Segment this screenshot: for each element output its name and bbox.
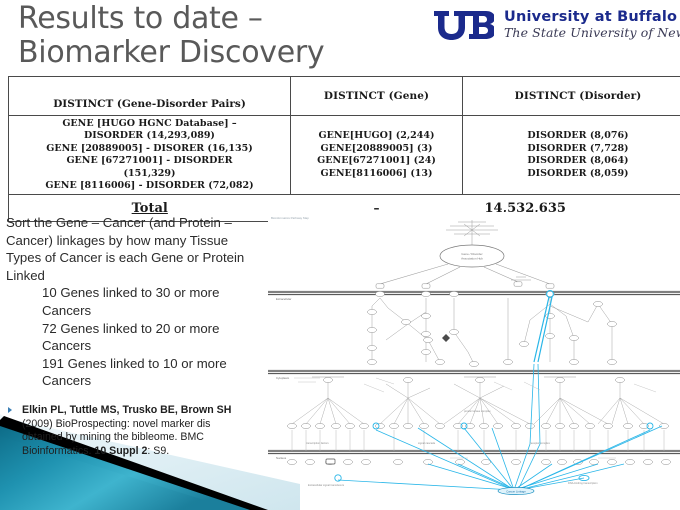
fan-cluster-3: [444, 380, 530, 424]
diagram-caption: Bioinformatics Pathway Map: [271, 216, 309, 220]
list-item: 191 Genes linked to 10 or more Cancers: [42, 355, 262, 390]
citation-journal: Bioinformatics.: [22, 445, 94, 457]
list-item: 72 Genes linked to 20 or more Cancers: [42, 320, 262, 355]
pairs-line-6: GENE [8116006] - DISORDER (72,082): [12, 180, 287, 192]
membrane-label-2: Cytoplasm: [276, 376, 290, 380]
svg-text:signal cascade: signal cascade: [418, 441, 436, 445]
citation-pages: : S9.: [147, 445, 169, 457]
logo-system-name: The State University of New York: [504, 25, 680, 40]
table-header-pairs: DISTINCT (Gene-Disorder Pairs): [9, 77, 291, 116]
gene-line-2: GENE[20889005] (3): [294, 143, 459, 155]
gene-line-1: GENE[HUGO] (2,244): [294, 130, 459, 142]
results-table: DISTINCT (Gene-Disorder Pairs) DISTINCT …: [8, 76, 680, 222]
svg-text:DNA-binding transcription: DNA-binding transcription: [568, 481, 598, 485]
body-lead-text: Sort the Gene – Cancer (and Protein – Ca…: [6, 214, 262, 284]
biological-pathway-network-diagram: Bioinformatics Pathway Map Extracellular…: [268, 212, 680, 510]
svg-text:Pathway Legend: Pathway Legend: [271, 501, 291, 505]
fan-hubs: [312, 377, 625, 383]
page-title: Results to date – Biomarker Discovery: [18, 2, 448, 70]
table-data-row: GENE [HUGO HGNC Database] – DISORDER (14…: [9, 116, 680, 195]
svg-text:Gene / Disorder: Gene / Disorder: [461, 252, 482, 256]
table-header-row: DISTINCT (Gene-Disorder Pairs) DISTINCT …: [9, 77, 680, 116]
membrane-label-1: Extracellular: [276, 297, 291, 301]
table-cell-pairs: GENE [HUGO HGNC Database] – DISORDER (14…: [9, 116, 291, 195]
citation-line-2: (2009) BioProspecting: novel marker dis: [22, 418, 270, 432]
nuclear-node-row: [288, 459, 671, 464]
table-cell-gene: GENE[HUGO] (2,244) GENE[20889005] (3) GE…: [291, 116, 463, 195]
table-header-gene: DISTINCT (Gene): [291, 77, 463, 116]
hub-cluster: [446, 220, 498, 246]
citation-volume: 10 Suppl 2: [94, 445, 147, 457]
special-nuclear-node: [326, 459, 335, 464]
fan-cluster-2: [380, 380, 440, 424]
pairs-line-5: (151,329): [12, 168, 287, 180]
university-logo: University at Buffalo The State Universi…: [432, 6, 672, 48]
vertical-drops: [292, 430, 664, 451]
page-title-line1: Results to date –: [18, 1, 263, 36]
fan-cluster-5: [598, 380, 664, 424]
ub-logo-mark-icon: [432, 8, 494, 42]
pairs-line-3: GENE [20889005] - DISORER (16,135): [12, 143, 287, 155]
citation-body: Elkin PL, Tuttle MS, Trusko BE, Brown SH…: [22, 404, 270, 458]
leaf-node-row: [288, 423, 669, 428]
citation-authors: Elkin PL, Tuttle MS, Trusko BE, Brown SH: [22, 404, 270, 418]
pathway-svg: Bioinformatics Pathway Map Extracellular…: [268, 212, 680, 510]
membrane-label-3: Nucleus: [276, 456, 287, 460]
svg-text:Extracellular signal transduce: Extracellular signal transducers: [308, 483, 345, 487]
gene-line-3: GENE[67271001] (24): [294, 155, 459, 167]
mid-nodes: [368, 301, 617, 366]
logo-university-name: University at Buffalo: [504, 9, 680, 25]
gene-line-4: GENE[8116006] (13): [294, 168, 459, 180]
disorder-line-1: DISORDER (8,076): [466, 130, 680, 142]
svg-text:Cancer Linkage: Cancer Linkage: [506, 490, 526, 494]
body-sub-list: 10 Genes linked to 30 or more Cancers 72…: [6, 284, 262, 390]
table-header-disorder: DISTINCT (Disorder): [463, 77, 680, 116]
fan-cluster-4: [534, 380, 608, 424]
body-text-block: Sort the Gene – Cancer (and Protein – Ca…: [6, 214, 262, 390]
pairs-line-2: DISORDER (14,293,089): [12, 130, 287, 142]
disorder-line-3: DISORDER (8,064): [466, 155, 680, 167]
table-cell-disorder: DISORDER (8,076) DISORDER (7,728) DISORD…: [463, 116, 680, 195]
slide-canvas: Results to date – Biomarker Discovery Un…: [0, 0, 680, 510]
highlight-path-upper: [534, 297, 552, 362]
membrane-bars: [268, 292, 680, 454]
citation-block: Elkin PL, Tuttle MS, Trusko BE, Brown SH…: [8, 404, 270, 458]
svg-text:protein kinase complex: protein kinase complex: [464, 409, 491, 413]
list-item: 10 Genes linked to 30 or more Cancers: [42, 284, 262, 319]
minor-connectors: [294, 378, 656, 458]
triangle-bullet-icon: [8, 407, 12, 413]
svg-text:Association Hub: Association Hub: [461, 257, 483, 261]
pairs-line-1: GENE [HUGO HGNC Database] –: [12, 118, 287, 130]
svg-text:receptor complex: receptor complex: [530, 441, 551, 445]
citation-line-3: obtained by mining the bibleome. BMC: [22, 431, 270, 445]
pairs-line-4: GENE [67271001] - DISORDER: [12, 155, 287, 167]
citation-authors-text: Elkin PL, Tuttle MS, Trusko BE, Brown SH: [22, 404, 231, 416]
svg-text:transcription factors: transcription factors: [306, 441, 329, 445]
page-title-line2: Biomarker Discovery: [18, 36, 448, 70]
diamond-node: [442, 334, 450, 342]
disorder-line-4: DISORDER (8,059): [466, 168, 680, 180]
citation-line-4: Bioinformatics. 10 Suppl 2: S9.: [22, 445, 270, 459]
logo-text-block: University at Buffalo The State Universi…: [504, 9, 680, 40]
fan-cluster-1: [292, 380, 364, 424]
mid-branches: [372, 298, 612, 364]
disorder-line-2: DISORDER (7,728): [466, 143, 680, 155]
